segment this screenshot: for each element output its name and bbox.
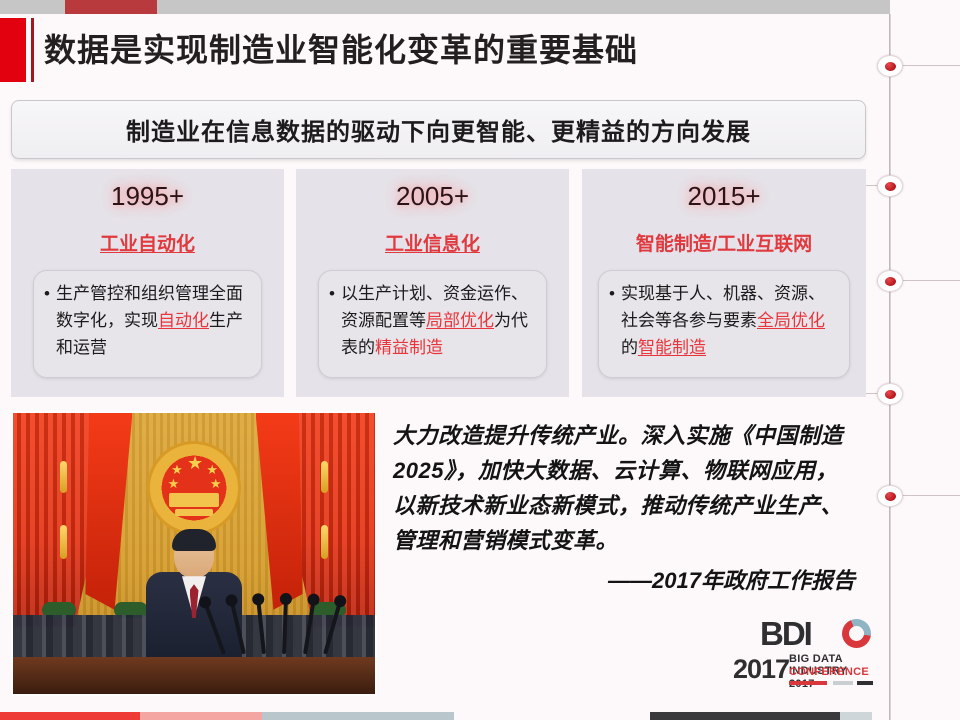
photo-tassel [60, 461, 67, 493]
top-bar-accent [65, 0, 157, 14]
logo-rule-bars [789, 681, 873, 685]
timeline-dot-3[interactable] [877, 270, 903, 292]
bdic-logo: 2017 BDI BIG DATA INDUSTRY CONFERENCE 20… [733, 617, 873, 689]
timeline-dot-2[interactable] [877, 175, 903, 197]
timeline-connector [900, 65, 960, 66]
footer-color-bar-2 [140, 712, 262, 720]
slide-canvas: 数据是实现制造业智能化变革的重要基础 制造业在信息数据的驱动下向更智能、更精益的… [0, 0, 960, 720]
timeline-dot-core-icon [885, 492, 896, 501]
card-stage-label: 工业信息化 [296, 229, 569, 256]
timeline-card-1995: 1995+ 工业自动化 • 生产管控和组织管理全面数字化，实现自动化生产和运营 [11, 169, 284, 397]
footer-color-bar-3 [262, 712, 454, 720]
footer-color-bar-4 [650, 712, 840, 720]
card-bullet-box: • 以生产计划、资金运作、资源配置等局部优化为代表的精益制造 [318, 270, 547, 378]
timeline-columns: 1995+ 工业自动化 • 生产管控和组织管理全面数字化，实现自动化生产和运营 … [11, 169, 866, 397]
subtitle-banner: 制造业在信息数据的驱动下向更智能、更精益的方向发展 [11, 100, 866, 159]
logo-wordmark: BDI [760, 617, 811, 650]
timeline-dot-5[interactable] [877, 485, 903, 507]
timeline-connector [900, 495, 960, 496]
podium-microphones [216, 598, 361, 654]
card-year-label: 2015+ [582, 181, 866, 212]
card-bullet-text: 以生产计划、资金运作、资源配置等局部优化为代表的精益制造 [341, 280, 536, 361]
title-accent-swatch [0, 18, 26, 82]
card-bullet-text: 实现基于人、机器、资源、社会等各参与要素全局优化的智能制造 [621, 280, 839, 361]
title-accent-rule [31, 18, 34, 82]
timeline-card-2015: 2015+ 智能制造/工业互联网 • 实现基于人、机器、资源、社会等各参与要素全… [582, 169, 866, 397]
timeline-dot-1[interactable] [877, 55, 903, 77]
highlight-term: 全局优化 [757, 311, 825, 330]
emblem-gate [169, 493, 218, 507]
card-year-label: 2005+ [296, 181, 569, 212]
conference-photo: ★ ★ ★ ★ ★ [11, 411, 377, 696]
timeline-dot-core-icon [885, 390, 896, 399]
subtitle-text: 制造业在信息数据的驱动下向更智能、更精益的方向发展 [126, 112, 751, 147]
card-stage-label: 工业自动化 [11, 229, 284, 256]
emblem-base [175, 509, 214, 516]
highlight-term: 精益制造 [375, 338, 443, 357]
timeline-card-2005: 2005+ 工业信息化 • 以生产计划、资金运作、资源配置等局部优化为代表的精益… [296, 169, 569, 397]
timeline-dot-core-icon [885, 182, 896, 191]
timeline-dot-4[interactable] [877, 383, 903, 405]
photo-tassel [321, 525, 328, 559]
china-national-emblem-icon: ★ ★ ★ ★ ★ [150, 444, 238, 532]
speaker-hair [172, 529, 216, 551]
quote-text: 大力改造提升传统产业。深入实施《中国制造2025》，加快大数据、云计算、物联网应… [393, 418, 855, 558]
photo-tassel [321, 461, 328, 493]
logo-year: 2017 [733, 654, 789, 685]
footer-color-bar-1 [0, 712, 140, 720]
timeline-rail-line [889, 14, 890, 720]
highlight-term: 局部优化 [426, 311, 494, 330]
card-bullet-box: • 生产管控和组织管理全面数字化，实现自动化生产和运营 [33, 270, 262, 378]
bullet-marker: • [329, 280, 341, 361]
timeline-dot-core-icon [885, 62, 896, 71]
bullet-marker: • [44, 280, 56, 361]
highlight-term: 自动化 [158, 311, 209, 330]
bullet-marker: • [609, 280, 621, 361]
card-bullet-box: • 实现基于人、机器、资源、社会等各参与要素全局优化的智能制造 [598, 270, 850, 378]
timeline-connector [900, 280, 960, 281]
timeline-dot-core-icon [885, 277, 896, 286]
page-title: 数据是实现制造业智能化变革的重要基础 [44, 21, 638, 79]
photo-tassel [60, 525, 67, 559]
highlight-term: 智能制造 [638, 338, 706, 357]
photo-podium [13, 657, 375, 694]
footer-color-bar-5 [840, 712, 872, 720]
card-bullet-text: 生产管控和组织管理全面数字化，实现自动化生产和运营 [56, 280, 251, 361]
logo-tagline-2: CONFERENCE 2017 [789, 666, 873, 690]
card-stage-label: 智能制造/工业互联网 [582, 229, 866, 256]
logo-circle-icon [842, 619, 871, 648]
top-bar [0, 0, 890, 14]
quote-attribution: ——2017年政府工作报告 [393, 563, 855, 595]
card-year-label: 1995+ [11, 181, 284, 212]
